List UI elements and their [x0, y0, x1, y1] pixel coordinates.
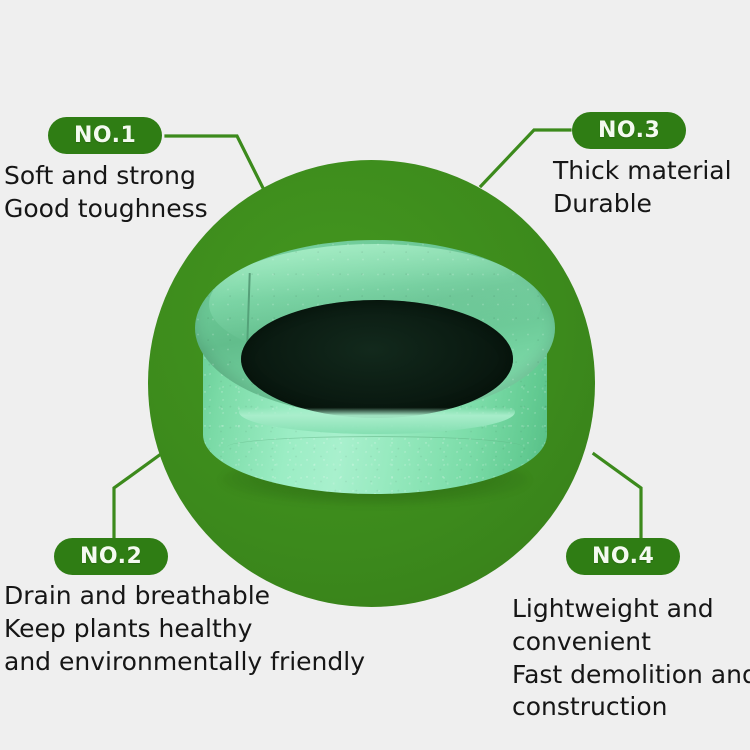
feature-line: Soft and strong: [4, 160, 208, 193]
feature-line: construction: [512, 691, 750, 724]
badge-no-3: NO.3: [572, 112, 686, 149]
feature-line: Fast demolition and: [512, 659, 750, 692]
feature-line: Thick material: [553, 155, 732, 188]
badge-no-2: NO.2: [54, 538, 168, 575]
feature-line: Good toughness: [4, 193, 208, 226]
feature-text-no-2: Drain and breathable Keep plants healthy…: [4, 580, 365, 678]
feature-line: Keep plants healthy: [4, 613, 365, 646]
feature-line: Drain and breathable: [4, 580, 365, 613]
feature-line: Durable: [553, 188, 732, 221]
feature-text-no-3: Thick material Durable: [553, 155, 732, 221]
feature-line: and environmentally friendly: [4, 646, 365, 679]
feature-line: Lightweight and: [512, 593, 750, 626]
feature-text-no-4: Lightweight and convenient Fast demoliti…: [512, 593, 750, 724]
badge-no-1: NO.1: [48, 117, 162, 154]
connector-no-2: [114, 454, 161, 540]
feature-text-no-1: Soft and strong Good toughness: [4, 160, 208, 226]
grow-bag-horizontal-seam: [227, 436, 523, 458]
grow-bag-front-rim-lip: [239, 390, 515, 434]
connector-no-4: [594, 454, 641, 540]
feature-line: convenient: [512, 626, 750, 659]
infographic-canvas: NO.1 Soft and strong Good toughness NO.3…: [0, 0, 750, 750]
badge-no-4: NO.4: [566, 538, 680, 575]
product-image-grow-bag: [195, 240, 555, 510]
